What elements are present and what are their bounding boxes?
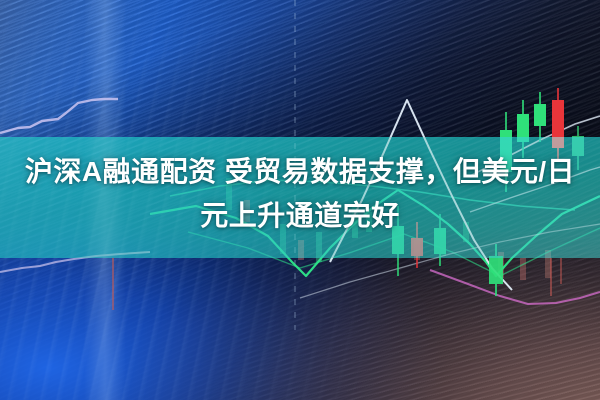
headline-text: 沪深A融通配资 受贸易数据支撑，但美元/日元上升通道完好 (0, 150, 600, 238)
candlestick-up (534, 92, 546, 142)
magenta-curve (430, 270, 600, 304)
news-banner: 沪深A融通配资 受贸易数据支撑，但美元/日元上升通道完好 (0, 0, 600, 400)
lavender-step-line (0, 99, 118, 133)
